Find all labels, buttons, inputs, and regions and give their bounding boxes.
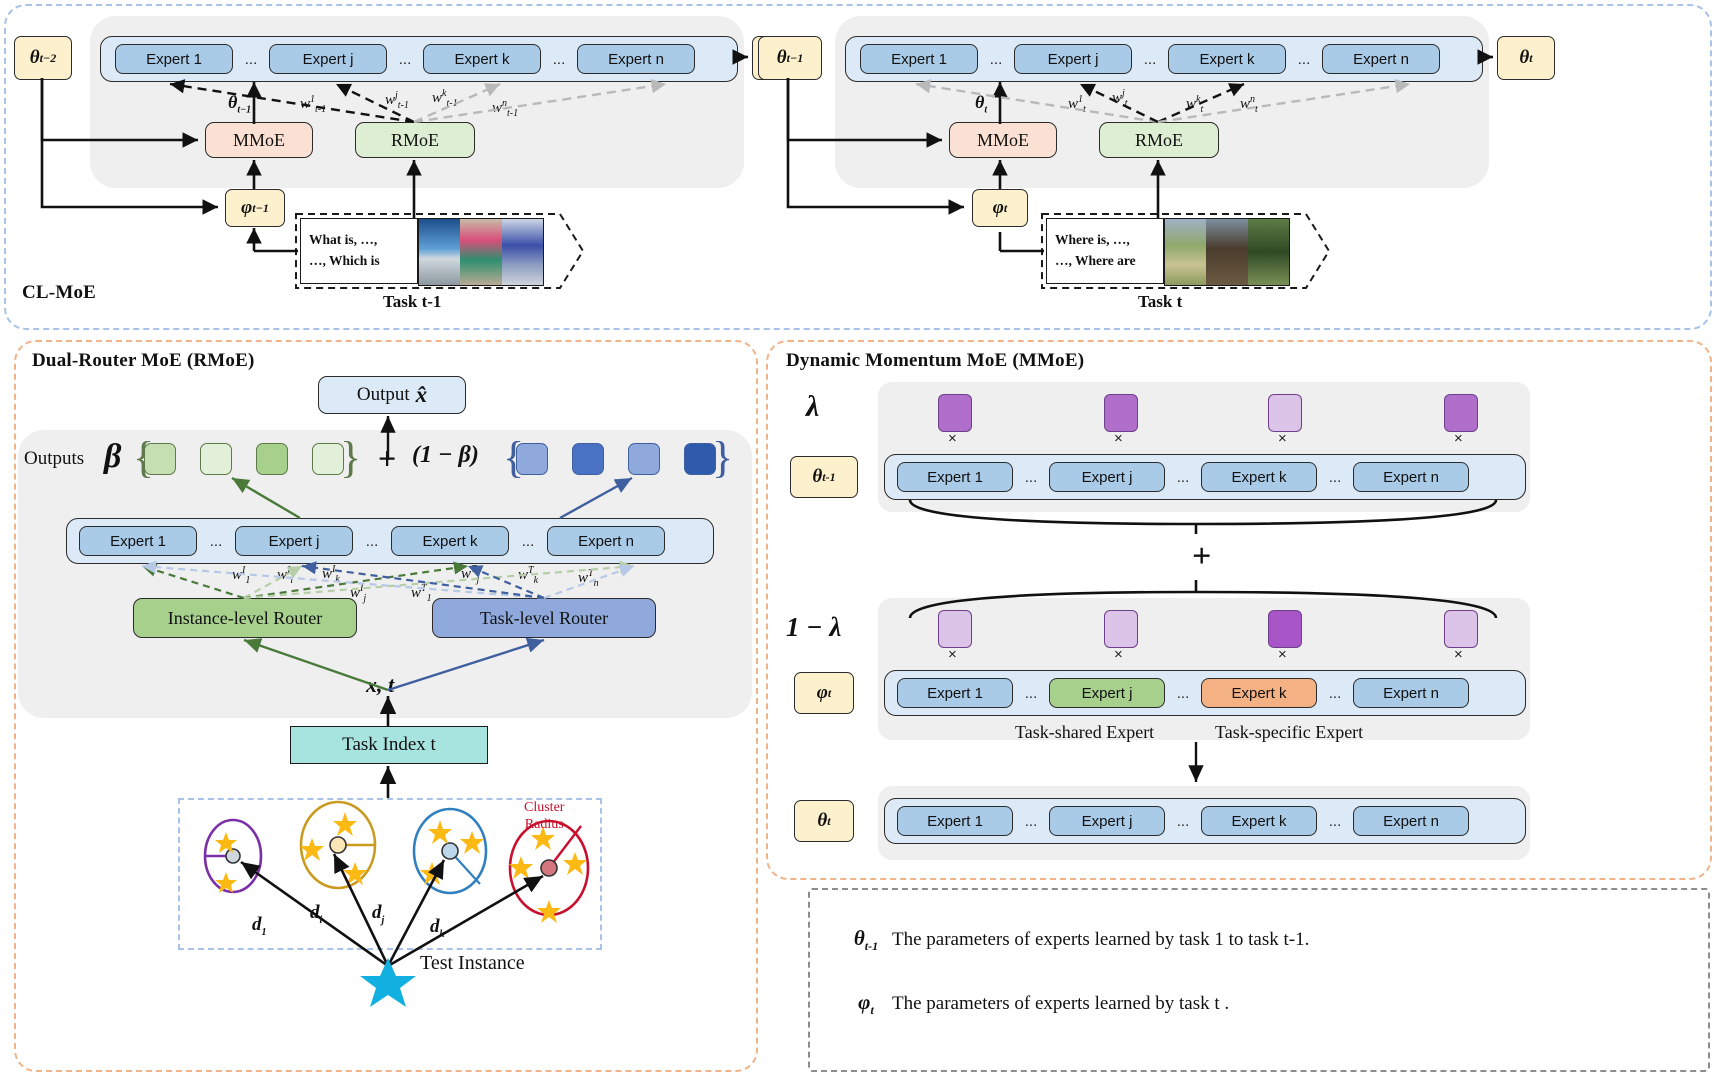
clmoe-right-image-strip bbox=[1164, 218, 1290, 286]
test-instance-label: Test Instance bbox=[420, 952, 525, 975]
expert-ellipsis: ... bbox=[1013, 462, 1049, 492]
output-label: Output bbox=[357, 384, 410, 406]
theta-t-minus-2-tag: θt−2 bbox=[14, 36, 72, 80]
expert-ellipsis: ... bbox=[197, 526, 235, 556]
expert-ellipsis: ... bbox=[1165, 806, 1201, 836]
expert-box[interactable]: Expert k bbox=[1168, 44, 1286, 74]
instance-weight-label: wIk bbox=[322, 564, 340, 585]
task-weight-label: wTk bbox=[518, 565, 538, 586]
one-minus-lambda-chip bbox=[1104, 610, 1138, 648]
expert-box[interactable]: Expert k bbox=[1201, 462, 1317, 492]
clmoe-left-mmoe-box[interactable]: MMoE bbox=[205, 122, 313, 158]
question-line: …, Where are bbox=[1055, 251, 1163, 272]
expert-ellipsis: ... bbox=[1317, 462, 1353, 492]
phi-t-minus-1-tag: φt−1 bbox=[225, 189, 285, 227]
times-icon: × bbox=[948, 430, 957, 447]
image-thumb bbox=[502, 219, 543, 285]
times-icon: × bbox=[1454, 430, 1463, 447]
lambda-chip bbox=[1104, 394, 1138, 432]
expert-box[interactable]: Expert n bbox=[1353, 806, 1469, 836]
clmoe-left-image-strip bbox=[418, 218, 544, 286]
expert-box[interactable]: Expert 1 bbox=[897, 462, 1013, 492]
task-level-router[interactable]: Task-level Router bbox=[432, 598, 656, 638]
times-icon: × bbox=[1278, 646, 1287, 663]
expert-ellipsis: ... bbox=[509, 526, 547, 556]
mmoe-phi-expert-strip: Expert 1 ... Expert j ... Expert k ... E… bbox=[884, 670, 1526, 716]
clmoe-right-rmoe-box[interactable]: RMoE bbox=[1099, 122, 1219, 158]
one-minus-lambda-label: 1 − λ bbox=[786, 612, 841, 643]
clmoe-left-expert-strip: Expert 1 ... Expert j ... Expert k ... E… bbox=[100, 36, 738, 82]
outputs-label: Outputs bbox=[24, 448, 84, 470]
expert-box[interactable]: Expert k bbox=[423, 44, 541, 74]
phi-t-tag: φt bbox=[972, 189, 1028, 227]
legend-text: The parameters of experts learned by tas… bbox=[892, 993, 1229, 1015]
task-weight-label: wT1 bbox=[411, 583, 432, 604]
clmoe-right-weight-label: wkt bbox=[1186, 94, 1203, 115]
legend-symbol: φt bbox=[840, 990, 892, 1018]
clmoe-left-question-box: What is, …, …, Which is bbox=[300, 218, 418, 284]
expert-ellipsis: ... bbox=[1013, 678, 1049, 708]
expert-ellipsis: ... bbox=[1132, 44, 1168, 74]
task-weight-label: wTj bbox=[461, 564, 479, 585]
phi-subscript: t bbox=[828, 686, 831, 701]
beta-output-chip bbox=[200, 443, 232, 475]
lambda-chip bbox=[1444, 394, 1478, 432]
expert-ellipsis: ... bbox=[1165, 462, 1201, 492]
image-thumb bbox=[1248, 219, 1289, 285]
expert-ellipsis: ... bbox=[233, 44, 269, 74]
expert-box[interactable]: Expert 1 bbox=[79, 526, 197, 556]
clmoe-right-question-box: Where is, …, …, Where are bbox=[1046, 218, 1164, 284]
theta-subscript: t−1 bbox=[787, 51, 804, 66]
lambda-label: λ bbox=[806, 390, 819, 424]
theta-symbol: θ bbox=[777, 47, 787, 69]
expert-ellipsis: ... bbox=[1165, 678, 1201, 708]
mmoe-theta-t-tag: θt bbox=[794, 800, 854, 842]
times-icon: × bbox=[1454, 646, 1463, 663]
expert-ellipsis: ... bbox=[978, 44, 1014, 74]
expert-box[interactable]: Expert j bbox=[1014, 44, 1132, 74]
instance-weight-label: wIi bbox=[277, 565, 293, 586]
theta-symbol: θ bbox=[30, 47, 40, 69]
expert-box[interactable]: Expert n bbox=[577, 44, 695, 74]
green-close-brace: } bbox=[340, 432, 361, 483]
clmoe-left-weight-label: w1t-1 bbox=[300, 94, 326, 115]
expert-ellipsis: ... bbox=[387, 44, 423, 74]
theta-subscript: t-1 bbox=[822, 470, 835, 485]
beta-output-chip bbox=[144, 443, 176, 475]
one-minus-lambda-chip bbox=[1268, 610, 1302, 648]
one-minus-lambda-chip bbox=[938, 610, 972, 648]
theta-subscript: t−2 bbox=[40, 51, 57, 66]
times-icon: × bbox=[1278, 430, 1287, 447]
panel-clmoe-title: CL-MoE bbox=[22, 282, 96, 304]
theta-t-tag: θt bbox=[1497, 36, 1555, 80]
expert-box[interactable]: Expert j bbox=[1049, 806, 1165, 836]
expert-box[interactable]: Expert n bbox=[1322, 44, 1440, 74]
expert-ellipsis: ... bbox=[1317, 678, 1353, 708]
distance-label: dj bbox=[372, 902, 384, 926]
expert-box[interactable]: Expert j bbox=[269, 44, 387, 74]
distance-label: d1 bbox=[252, 914, 267, 938]
clmoe-left-caption: Task t-1 bbox=[383, 292, 441, 312]
theta-symbol: θ bbox=[812, 466, 822, 488]
image-thumb bbox=[419, 219, 460, 285]
question-line: Where is, …, bbox=[1055, 230, 1163, 251]
clmoe-left-theta-arrow-label: θt−1 bbox=[228, 92, 251, 116]
times-icon: × bbox=[948, 646, 957, 663]
clmoe-left-weight-label: wnt-1 bbox=[492, 98, 518, 119]
task-specific-expert-label: Task-specific Expert bbox=[1215, 722, 1363, 743]
instance-level-router[interactable]: Instance-level Router bbox=[133, 598, 357, 638]
one-minus-lambda-chip bbox=[1444, 610, 1478, 648]
expert-box[interactable]: Expert 1 bbox=[115, 44, 233, 74]
phi-symbol: φ bbox=[993, 197, 1004, 219]
mmoe-theta-prev-tag: θt-1 bbox=[790, 456, 858, 498]
clmoe-right-caption: Task t bbox=[1138, 292, 1182, 312]
expert-box-task-specific[interactable]: Expert k bbox=[1201, 678, 1317, 708]
legend-panel bbox=[808, 888, 1710, 1072]
lambda-chip bbox=[938, 394, 972, 432]
cluster-radius-line2: Radius bbox=[524, 817, 564, 834]
legend-symbol: θt-1 bbox=[840, 926, 892, 954]
times-icon: × bbox=[1114, 430, 1123, 447]
theta-subscript: t bbox=[1529, 51, 1532, 66]
rmoe-expert-strip: Expert 1 ... Expert j ... Expert k ... E… bbox=[66, 518, 714, 564]
expert-ellipsis: ... bbox=[541, 44, 577, 74]
clmoe-right-expert-strip: Expert 1 ... Expert j ... Expert k ... E… bbox=[845, 36, 1483, 82]
expert-ellipsis: ... bbox=[1286, 44, 1322, 74]
panel-rmoe-title: Dual-Router MoE (RMoE) bbox=[32, 350, 255, 372]
mmoe-phi-t-tag: φt bbox=[794, 672, 854, 714]
mmoe-theta-prev-expert-strip: Expert 1 ... Expert j ... Expert k ... E… bbox=[884, 454, 1526, 500]
lambda-chip bbox=[1268, 394, 1302, 432]
task-weight-label: wTn bbox=[578, 568, 599, 589]
one-minus-beta-output-chip bbox=[516, 443, 548, 475]
times-icon: × bbox=[1114, 646, 1123, 663]
theta-symbol: θ bbox=[1519, 47, 1529, 69]
clmoe-left-weight-label: wkt-1 bbox=[432, 88, 458, 109]
expert-box[interactable]: Expert 1 bbox=[860, 44, 978, 74]
blue-close-brace: } bbox=[712, 432, 733, 483]
question-line: What is, …, bbox=[309, 230, 417, 251]
clmoe-left-weight-label: wjt-1 bbox=[385, 90, 409, 111]
expert-box[interactable]: Expert k bbox=[1201, 806, 1317, 836]
expert-ellipsis: ... bbox=[353, 526, 391, 556]
one-minus-beta-output-chip bbox=[628, 443, 660, 475]
clmoe-right-weight-label: wnt bbox=[1240, 94, 1258, 115]
clmoe-right-weight-label: w1t bbox=[1068, 94, 1086, 115]
panel-mmoe-title: Dynamic Momentum MoE (MMoE) bbox=[786, 350, 1084, 372]
phi-subscript: t−1 bbox=[252, 201, 269, 216]
clmoe-right-theta-arrow-label: θt bbox=[975, 92, 987, 116]
instance-weight-label: wI1 bbox=[232, 565, 250, 586]
expert-box[interactable]: Expert 1 bbox=[897, 806, 1013, 836]
distance-label: di bbox=[310, 902, 322, 926]
theta-symbol: θ bbox=[817, 810, 827, 832]
expert-box[interactable]: Expert n bbox=[547, 526, 665, 556]
cluster-radius-line1: Cluster bbox=[524, 800, 564, 817]
phi-symbol: φ bbox=[241, 197, 252, 219]
expert-ellipsis: ... bbox=[1013, 806, 1049, 836]
expert-box[interactable]: Expert 1 bbox=[897, 678, 1013, 708]
clmoe-right-weight-label: wjt bbox=[1112, 88, 1128, 109]
legend-row: φt The parameters of experts learned by … bbox=[840, 990, 1229, 1018]
mmoe-one-minus-lambda-stage bbox=[878, 598, 1530, 740]
rmoe-output-box: Output x̂ bbox=[318, 376, 466, 414]
image-thumb bbox=[1206, 219, 1247, 285]
expert-box[interactable]: Expert j bbox=[1049, 462, 1165, 492]
output-symbol: x̂ bbox=[416, 382, 428, 408]
expert-box[interactable]: Expert n bbox=[1353, 462, 1469, 492]
image-thumb bbox=[1165, 219, 1206, 285]
task-index-box[interactable]: Task Index t bbox=[290, 726, 488, 764]
expert-box[interactable]: Expert k bbox=[391, 526, 509, 556]
expert-ellipsis: ... bbox=[1317, 806, 1353, 836]
expert-box[interactable]: Expert j bbox=[235, 526, 353, 556]
legend-row: θt-1 The parameters of experts learned b… bbox=[840, 926, 1309, 954]
beta-output-chip bbox=[256, 443, 288, 475]
mmoe-plus-sign: + bbox=[1192, 538, 1211, 576]
beta-symbol: β bbox=[104, 438, 121, 476]
clmoe-left-rmoe-box[interactable]: RMoE bbox=[355, 122, 475, 158]
expert-box-task-shared[interactable]: Expert j bbox=[1049, 678, 1165, 708]
one-minus-beta-output-chip bbox=[572, 443, 604, 475]
legend-text: The parameters of experts learned by tas… bbox=[892, 929, 1309, 951]
task-shared-expert-label: Task-shared Expert bbox=[1015, 722, 1154, 743]
expert-box[interactable]: Expert n bbox=[1353, 678, 1469, 708]
mmoe-theta-t-expert-strip: Expert 1 ... Expert j ... Expert k ... E… bbox=[884, 798, 1526, 844]
theta-subscript: t bbox=[827, 814, 830, 829]
cluster-radius-label: Cluster Radius bbox=[524, 800, 564, 834]
clmoe-right-mmoe-box[interactable]: MMoE bbox=[949, 122, 1057, 158]
distance-label: dk bbox=[430, 916, 445, 940]
phi-symbol: φ bbox=[817, 682, 828, 704]
one-minus-beta-label: (1 − β) bbox=[412, 442, 479, 469]
question-line: …, Which is bbox=[309, 251, 417, 272]
image-thumb bbox=[460, 219, 501, 285]
x-t-label: x, t bbox=[366, 672, 394, 698]
plus-sign: + bbox=[378, 440, 396, 477]
theta-t-minus-1-tag-right: θt−1 bbox=[758, 36, 822, 80]
phi-subscript: t bbox=[1004, 201, 1007, 216]
